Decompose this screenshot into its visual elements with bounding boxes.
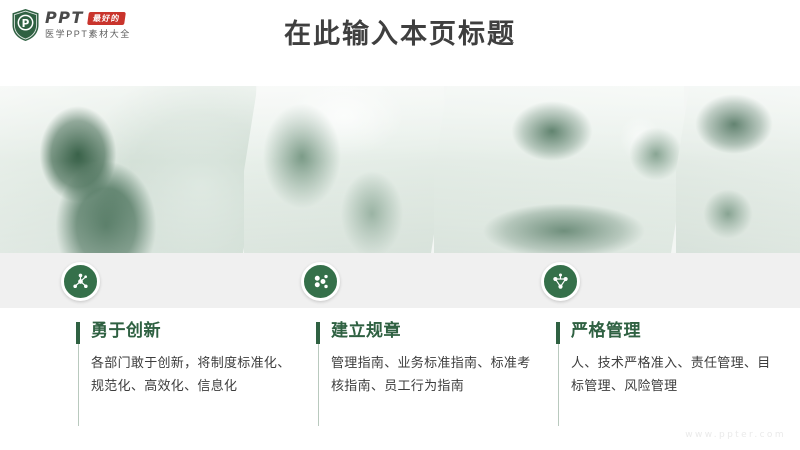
divider-strip	[0, 253, 800, 308]
photo-band	[0, 86, 800, 253]
feature-column-3: 严格管理 人、技术严格准入、责任管理、目标管理、风险管理	[556, 320, 776, 397]
icon-badge-2[interactable]	[301, 262, 340, 301]
photo-panel-test-tubes	[419, 86, 699, 253]
cell-cluster-icon	[311, 272, 330, 291]
molecule-icon	[71, 272, 90, 291]
feature-heading-2: 建立规章	[331, 320, 536, 342]
photo-panel-microscope-left	[0, 86, 271, 253]
feature-body-2: 管理指南、业务标准指南、标准考核指南、员工行为指南	[331, 351, 536, 397]
feature-heading-3: 严格管理	[571, 320, 776, 342]
page-title: 在此输入本页标题	[0, 16, 800, 52]
molecule-triangle-icon	[551, 272, 570, 291]
feature-heading-1: 勇于创新	[91, 320, 296, 342]
icon-badge-3[interactable]	[541, 262, 580, 301]
feature-column-2: 建立规章 管理指南、业务标准指南、标准考核指南、员工行为指南	[316, 320, 536, 397]
slide-canvas: P PPT 最好的 医学PPT素材大全 在此输入本页标题	[0, 0, 800, 450]
footer-watermark: www.ppter.com	[685, 430, 786, 440]
feature-column-1: 勇于创新 各部门敢于创新，将制度标准化、规范化、高效化、信息化	[76, 320, 296, 397]
feature-body-1: 各部门敢于创新，将制度标准化、规范化、高效化、信息化	[91, 351, 296, 397]
feature-body-3: 人、技术严格准入、责任管理、目标管理、风险管理	[571, 351, 776, 397]
icon-badge-1[interactable]	[61, 262, 100, 301]
